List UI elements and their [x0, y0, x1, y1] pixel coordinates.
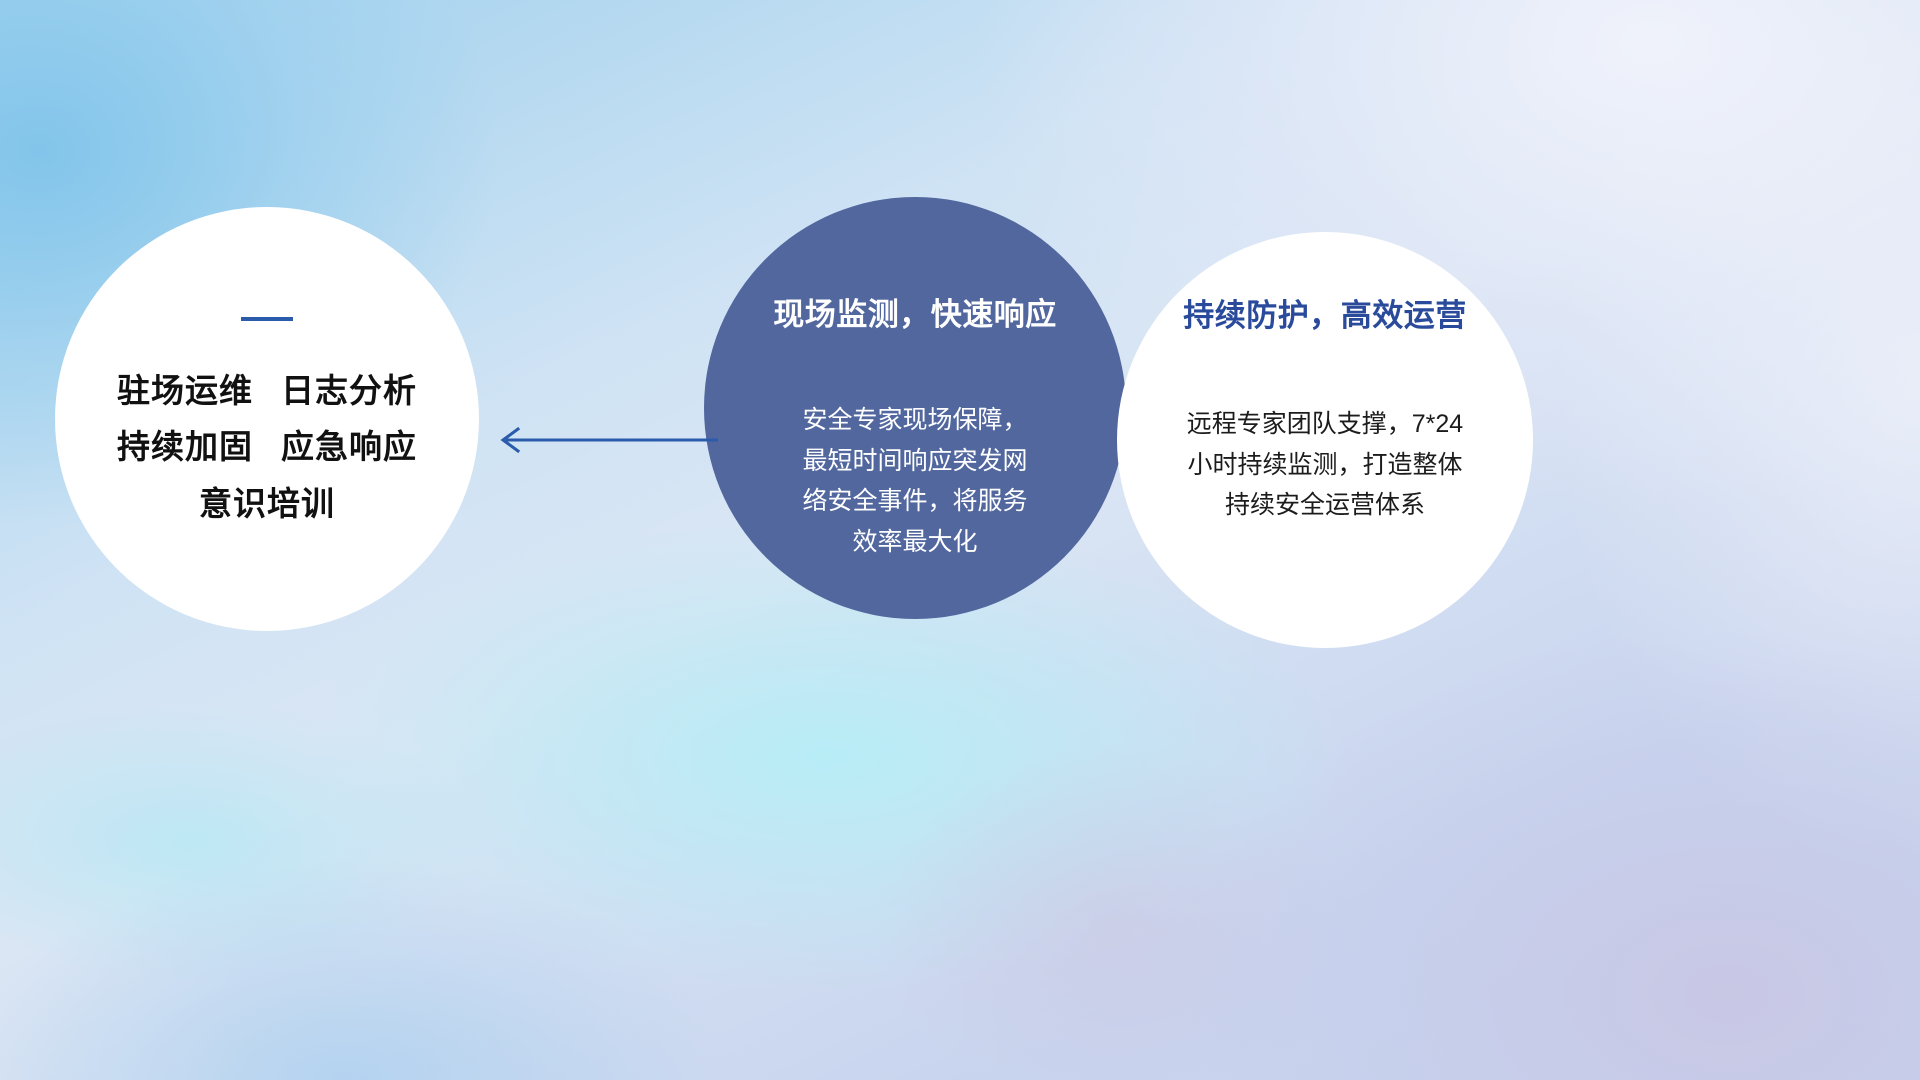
- body-line: 效率最大化: [770, 522, 1060, 563]
- body-line: 络安全事件，将服务: [770, 481, 1060, 522]
- list-item: 持续加固应急响应: [117, 430, 417, 465]
- left-circle-content: 驻场运维日志分析 持续加固应急响应 意识培训: [55, 207, 479, 631]
- service-label: 日志分析: [281, 372, 417, 409]
- service-label: 驻场运维: [117, 372, 253, 409]
- middle-circle-content: 现场监测，快速响应 安全专家现场保障， 最短时间响应突发网 络安全事件，将服务 …: [704, 197, 1126, 619]
- list-item: 驻场运维日志分析: [117, 374, 417, 409]
- list-item: 意识培训: [199, 487, 335, 522]
- body-line: 最短时间响应突发网: [770, 441, 1060, 482]
- left-circle-service-list: 驻场运维日志分析 持续加固应急响应 意识培训: [117, 374, 417, 522]
- middle-circle-body: 安全专家现场保障， 最短时间响应突发网 络安全事件，将服务 效率最大化: [770, 400, 1060, 562]
- body-line: 安全专家现场保障，: [770, 400, 1060, 441]
- body-line: 小时持续监测，打造整体: [1153, 445, 1498, 486]
- right-circle-title: 持续防护，高效运营: [1183, 290, 1467, 335]
- body-line: 持续安全运营体系: [1153, 485, 1498, 526]
- middle-circle-title: 现场监测，快速响应: [773, 289, 1057, 334]
- left-arrow-icon: [490, 418, 720, 462]
- divider-dash-icon: [241, 317, 293, 321]
- service-label: 应急响应: [281, 428, 417, 465]
- slide-canvas: 驻场运维日志分析 持续加固应急响应 意识培训 现场监测，快速响应 安全专家现场保…: [0, 0, 1920, 1080]
- service-label: 持续加固: [117, 428, 253, 465]
- body-line: 远程专家团队支撑，7*24: [1153, 404, 1498, 445]
- right-circle-body: 远程专家团队支撑，7*24 小时持续监测，打造整体 持续安全运营体系: [1153, 404, 1498, 526]
- right-circle-content: 持续防护，高效运营 远程专家团队支撑，7*24 小时持续监测，打造整体 持续安全…: [1117, 232, 1533, 648]
- service-label: 意识培训: [199, 485, 335, 522]
